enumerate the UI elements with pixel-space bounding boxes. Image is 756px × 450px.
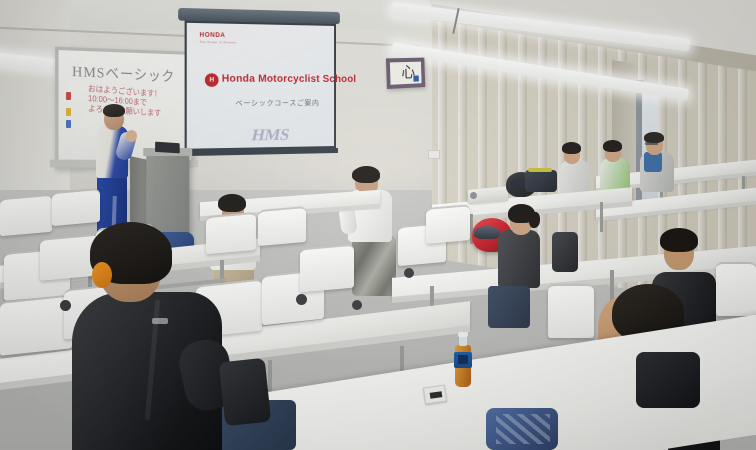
student-ponytail-legs: [488, 286, 530, 328]
projector-screen-surface: HONDA The Power of Dreams H Honda Motorc…: [185, 21, 336, 151]
student-front-left-logo: [152, 318, 168, 324]
classroom-photo: HMSベーシック おはようございます！ 10:00～16:00まで よろしくお願…: [0, 0, 756, 450]
floor-bag: [636, 352, 700, 408]
chair[interactable]: [0, 194, 52, 237]
laptop: [155, 142, 180, 154]
slide-title: Honda Motorcyclist School: [222, 73, 356, 85]
chair-caster: [60, 300, 71, 311]
chair[interactable]: [426, 204, 470, 244]
chair[interactable]: [300, 244, 354, 293]
instructor-hair: [103, 104, 125, 117]
honda-logo-glyph: H: [209, 77, 214, 83]
whiteboard-heading: HMSベーシック: [72, 60, 162, 85]
chair[interactable]: [206, 212, 256, 254]
student-ponytail-body: [498, 230, 540, 288]
student-white-shirt-hair: [218, 194, 246, 212]
bag: [525, 170, 557, 192]
student-gray-shirt-hair: [562, 142, 581, 154]
honda-logo-icon: H: [205, 73, 219, 87]
instructor-hands: [126, 130, 137, 142]
student-ponytail-tail: [529, 212, 540, 228]
chair[interactable]: [548, 284, 594, 338]
honda-tagline: The Power of Dreams: [200, 40, 237, 45]
student-black-jacket-hair: [660, 228, 698, 252]
honda-wordmark: HONDA: [200, 33, 226, 40]
chair-caster: [352, 300, 362, 310]
bag-strap: [528, 168, 552, 172]
calligraphy-seal-icon: [413, 75, 419, 81]
student-camo-pants-hair: [353, 166, 380, 183]
jacket-on-chair: [552, 232, 578, 272]
student-green-shirt-hair: [603, 140, 622, 152]
projector-screen: HONDA The Power of Dreams H Honda Motorc…: [182, 14, 336, 166]
desk-leg: [600, 202, 603, 232]
chair[interactable]: [716, 262, 756, 316]
drink-bottle-neck: [459, 336, 467, 346]
hms-mark-icon: HMS: [250, 127, 291, 146]
floor-bag-pattern: [496, 414, 550, 444]
whiteboard-notes: おはようございます！ 10:00～16:00まで よろしくお願いします: [88, 84, 170, 119]
student-glasses-scarf: [644, 152, 662, 172]
slide-subtitle: ベーシックコースご案内: [235, 98, 319, 109]
student-camo-pants-legs: [352, 236, 396, 296]
drink-bottle-label-art: [458, 355, 468, 364]
chair-caster: [296, 294, 307, 305]
whiteboard-marker-red: [66, 92, 71, 100]
framed-calligraphy: 心: [386, 58, 425, 89]
floor-bag: [219, 358, 271, 426]
whiteboard-marker-blue: [66, 120, 71, 128]
drink-bottle-cap: [458, 332, 468, 337]
glasses-icon: [645, 142, 658, 145]
orange-headphones: [92, 262, 112, 288]
wall-outlet: [428, 150, 440, 159]
chair-caster: [404, 268, 414, 278]
projector-lens-icon: [470, 192, 477, 199]
chair[interactable]: [258, 206, 306, 246]
chair[interactable]: [52, 188, 100, 226]
red-helmet-visor: [474, 226, 500, 239]
whiteboard-marker-yellow: [66, 108, 71, 116]
